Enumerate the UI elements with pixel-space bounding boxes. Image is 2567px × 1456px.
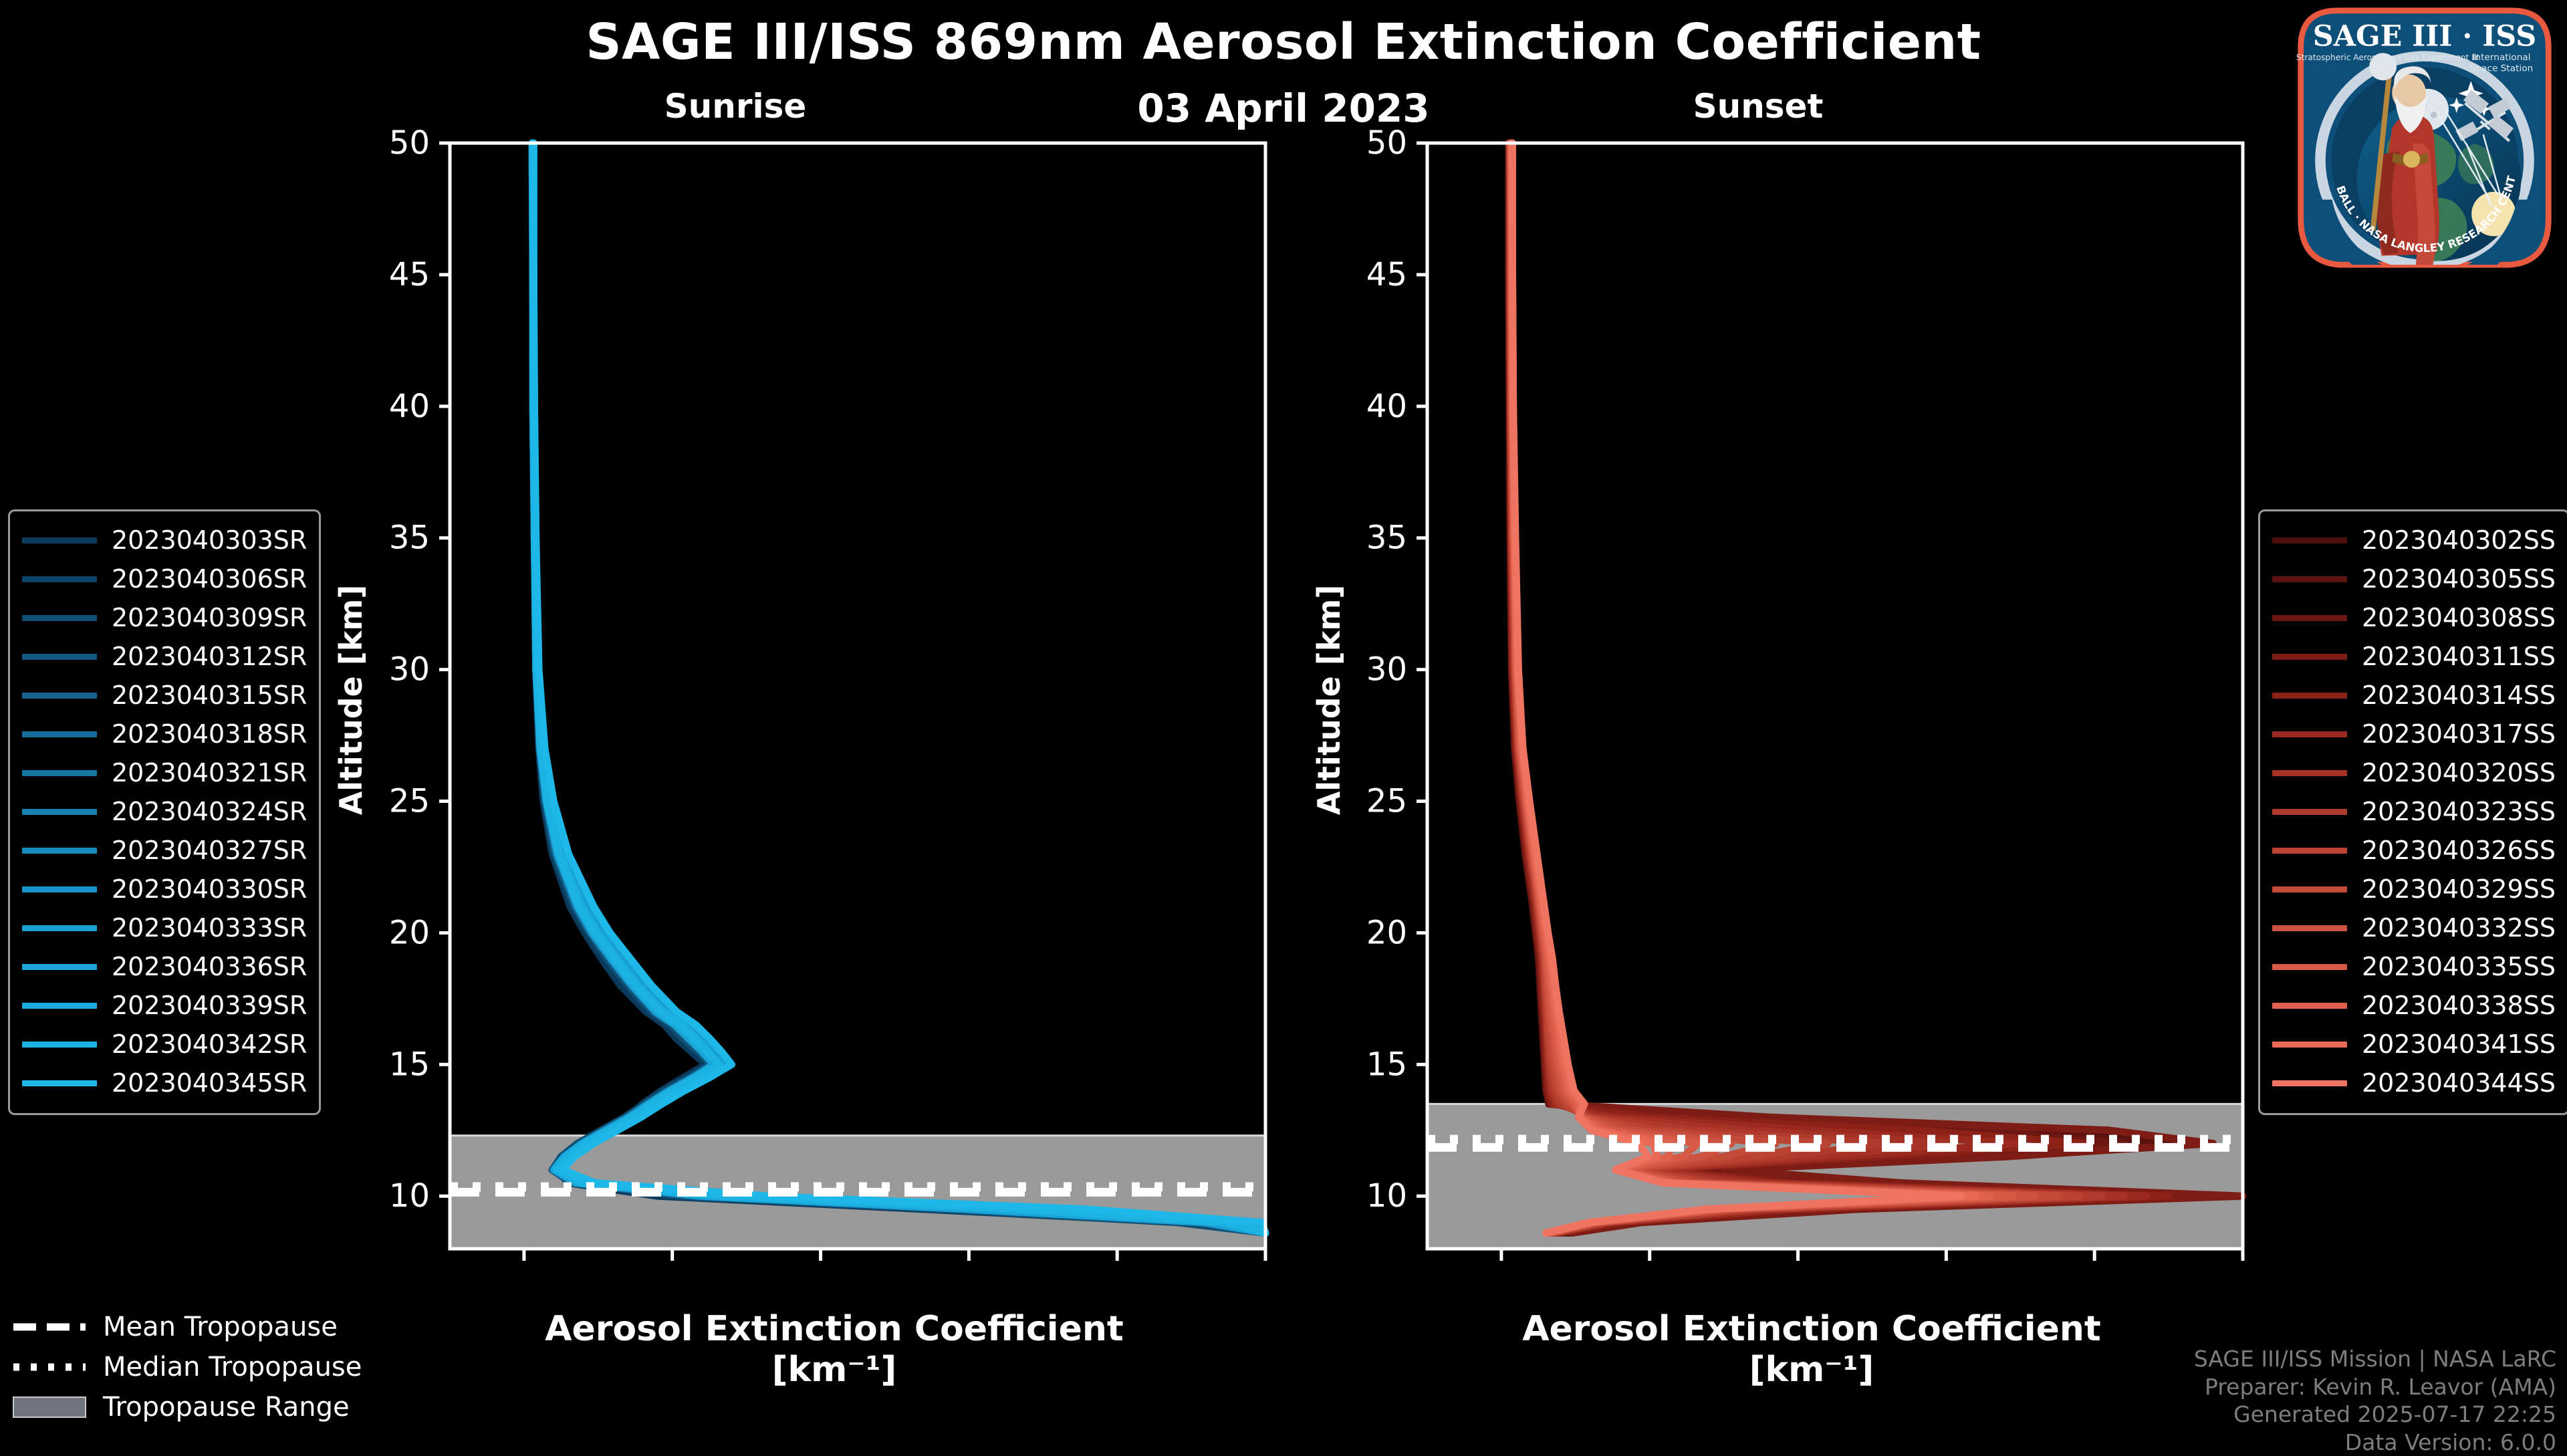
sunset-legend-item: 2023040329SS [2272,870,2556,908]
series-line [1509,143,2147,1233]
x-tick-label: 0.004 [1752,1267,1844,1270]
x-axis-label-left: Aerosol Extinction Coefficient [km⁻¹] [390,1309,1279,1391]
sunrise-legend-swatch [22,731,97,737]
series-line [1511,143,2057,1233]
sunset-legend-swatch [2272,925,2347,931]
sunset-legend-label: 2023040329SS [2362,874,2556,904]
sunrise-legend-label: 2023040309SR [112,603,307,632]
credits-line-1: SAGE III/ISS Mission | NASA LaRC [2194,1345,2556,1373]
series-line [1513,143,1961,1233]
sunset-legend-item: 2023040314SS [2272,676,2556,715]
sunrise-legend-label: 2023040339SR [112,991,307,1020]
x-axis-label-line1: Aerosol Extinction Coefficient [1522,1309,2101,1349]
sunset-legend-label: 2023040338SS [2362,991,2556,1020]
y-tick-label: 30 [389,651,430,689]
sunrise-legend-label: 2023040324SR [112,797,307,826]
sunset-legend-item: 2023040326SS [2272,831,2556,870]
logo-subtitle-left: Stratospheric Aerosol and Gas Experiment… [2296,53,2479,62]
sunset-plot: 1015202530354045500.0000.0020.0040.0060.… [1365,120,2261,1270]
series-line [532,143,1265,1233]
series-line [1510,143,2124,1233]
legend-label-median-tropopause: Median Tropopause [103,1352,362,1382]
sunset-legend-swatch [2272,886,2347,892]
sunrise-legend-label: 2023040306SR [112,564,307,594]
sunset-legend-label: 2023040341SS [2362,1029,2556,1059]
sunset-legend-item: 2023040323SS [2272,792,2556,831]
y-tick-label: 25 [389,783,430,820]
sunset-legend-label: 2023040317SS [2362,719,2556,749]
y-tick-label: 30 [1366,651,1407,689]
sunset-legend-item: 2023040302SS [2272,521,2556,560]
sunset-legend-label: 2023040320SS [2362,758,2556,787]
series-line [533,143,1265,1233]
sunset-legend-item: 2023040305SS [2272,560,2556,598]
series-line [1509,143,2213,1233]
sunset-legend-label: 2023040332SS [2362,913,2556,943]
logo-subtitle-right-1: International [2473,52,2531,63]
x-tick-label: 0.008 [2048,1267,2140,1270]
sunrise-legend-swatch [22,1042,97,1048]
series-line [533,143,1265,1233]
sunrise-legend-swatch [22,886,97,892]
sunset-legend-swatch [2272,809,2347,815]
series-line [1509,143,2243,1233]
sunset-legend-swatch [2272,1042,2347,1048]
sunset-legend-label: 2023040302SS [2362,525,2556,555]
sunrise-plot: 1015202530354045500.0000.0020.0040.0060.… [388,120,1283,1270]
sunrise-legend-swatch [22,1003,97,1009]
series-line [533,143,1265,1233]
sunset-legend-swatch [2272,615,2347,621]
y-tick-label: 40 [1366,388,1407,425]
sunset-legend-swatch [2272,537,2347,543]
series-line [533,143,1265,1233]
sunset-legend-swatch [2272,848,2347,854]
sunrise-legend-swatch [22,615,97,621]
legend-label-mean-tropopause: Mean Tropopause [103,1312,338,1342]
sunset-legend-swatch [2272,693,2347,699]
sunrise-legend-item: 2023040342SR [22,1025,307,1064]
legend-item-median-tropopause: Median Tropopause [12,1347,362,1387]
y-tick-label: 20 [1366,914,1407,951]
sunrise-legend-label: 2023040342SR [112,1029,307,1059]
logo-title: SAGE III · ISS [2313,20,2537,53]
sunset-legend-label: 2023040314SS [2362,681,2556,710]
x-tick-label: 0.008 [1071,1267,1163,1270]
series-line [533,143,1265,1233]
sunrise-legend-item: 2023040312SR [22,637,307,676]
sunrise-legend-item: 2023040318SR [22,715,307,753]
sunset-legend-swatch [2272,731,2347,737]
sunset-legend-swatch [2272,654,2347,660]
sunrise-legend-item: 2023040315SR [22,676,307,715]
dashed-line-icon [12,1319,87,1335]
series-line [1511,143,2013,1233]
x-tick-label: 0.006 [1901,1267,1992,1270]
series-line [1509,143,2191,1233]
series-line [1511,143,2035,1233]
x-tick-label: 0.002 [626,1267,718,1270]
x-tick-label: 0.000 [1455,1267,1547,1270]
sunrise-legend-label: 2023040333SR [112,913,307,943]
series-line [533,143,1265,1233]
series-line [1511,143,1975,1233]
series-line [533,143,1265,1233]
x-tick-label: 0.006 [923,1267,1015,1270]
y-axis-label-left: Altitude [km] [333,580,369,820]
sunrise-legend-label: 2023040303SR [112,525,307,555]
sunrise-legend-item: 2023040336SR [22,947,307,986]
series-line [532,143,1265,1233]
sunrise-legend-label: 2023040345SR [112,1068,307,1098]
axis-frame [450,143,1265,1249]
x-tick-label: 0.000 [478,1267,570,1270]
page-title: SAGE III/ISS 869nm Aerosol Extinction Co… [0,13,2567,71]
series-line [533,143,1265,1233]
sunrise-legend-label: 2023040315SR [112,681,307,710]
sunrise-legend-item: 2023040345SR [22,1064,307,1102]
sunrise-legend-label: 2023040327SR [112,836,307,865]
series-line [1510,143,2102,1233]
credits-line-3: Generated 2025-07-17 22:25 [2194,1401,2556,1429]
series-line [533,143,1265,1233]
sunrise-legend-swatch [22,848,97,854]
sunrise-legend-label: 2023040336SR [112,952,307,981]
series-line [1509,143,2169,1233]
legend-label-tropopause-range: Tropopause Range [103,1392,350,1423]
x-tick-label: 0.010 [1219,1267,1283,1270]
sunset-legend-label: 2023040326SS [2362,836,2556,865]
y-tick-label: 10 [389,1177,430,1215]
logo-subtitle-right-2: Space Station [2470,64,2533,74]
sunset-legend-item: 2023040335SS [2272,947,2556,986]
sunrise-legend-item: 2023040309SR [22,598,307,637]
sunrise-legend-swatch [22,576,97,582]
sunrise-legend-swatch [22,964,97,970]
gray-band-swatch [12,1396,87,1419]
series-line [1511,143,1991,1233]
series-line [533,143,1265,1233]
sunrise-legend-item: 2023040333SR [22,908,307,947]
sunset-legend: 2023040302SS2023040305SS2023040308SS2023… [2258,509,2567,1115]
legend-item-mean-tropopause: Mean Tropopause [12,1307,362,1347]
sunrise-legend-item: 2023040327SR [22,831,307,870]
sunset-legend-item: 2023040338SS [2272,986,2556,1025]
sunset-legend-item: 2023040341SS [2272,1025,2556,1064]
sunset-legend-label: 2023040323SS [2362,797,2556,826]
sunset-legend-label: 2023040305SS [2362,564,2556,594]
sunrise-legend-label: 2023040312SR [112,642,307,671]
sunrise-legend-label: 2023040330SR [112,874,307,904]
sunrise-legend-item: 2023040303SR [22,521,307,560]
sunrise-legend-swatch [22,693,97,699]
dotted-line-icon [12,1359,87,1375]
y-tick-label: 45 [389,256,430,293]
sunset-legend-item: 2023040311SS [2272,637,2556,676]
sunrise-legend-swatch [22,770,97,776]
sunrise-legend-item: 2023040339SR [22,986,307,1025]
sunrise-legend-item: 2023040324SR [22,792,307,831]
sunrise-legend-label: 2023040321SR [112,758,307,787]
sunset-legend-item: 2023040308SS [2272,598,2556,637]
sunset-legend-swatch [2272,1080,2347,1086]
credits-line-2: Preparer: Kevin R. Leavor (AMA) [2194,1373,2556,1401]
y-tick-label: 20 [389,914,430,951]
x-axis-label-line2: [km⁻¹] [772,1350,897,1390]
sunrise-legend-swatch [22,925,97,931]
series-line [533,143,1265,1233]
y-tick-label: 15 [389,1046,430,1083]
sunset-legend-item: 2023040332SS [2272,908,2556,947]
sunset-legend-swatch [2272,1003,2347,1009]
sunset-legend-item: 2023040320SS [2272,753,2556,792]
sunrise-legend-swatch [22,1080,97,1086]
sunset-legend-label: 2023040311SS [2362,642,2556,671]
sunset-legend-swatch [2272,964,2347,970]
series-line [532,143,1265,1233]
y-tick-label: 10 [1366,1177,1407,1215]
sunrise-legend-swatch [22,809,97,815]
series-line [533,143,1265,1233]
sunset-legend-swatch [2272,576,2347,582]
credits-line-4: Data Version: 6.0.0 [2194,1429,2556,1456]
sunrise-legend-item: 2023040306SR [22,560,307,598]
credits-block: SAGE III/ISS Mission | NASA LaRC Prepare… [2194,1345,2556,1456]
y-tick-label: 15 [1366,1046,1407,1083]
y-tick-label: 35 [389,519,430,557]
sunrise-legend-item: 2023040321SR [22,753,307,792]
x-tick-label: 0.002 [1604,1267,1695,1270]
y-axis-label-right: Altitude [km] [1311,580,1347,820]
sunrise-legend: 2023040303SR2023040306SR2023040309SR2023… [8,509,321,1115]
y-tick-label: 35 [1366,519,1407,557]
tropopause-legend: Mean Tropopause Median Tropopause Tropop… [12,1307,362,1427]
sunset-legend-label: 2023040344SS [2362,1068,2556,1098]
y-tick-label: 40 [389,388,430,425]
sunset-legend-item: 2023040317SS [2272,715,2556,753]
sunset-legend-label: 2023040335SS [2362,952,2556,981]
x-tick-label: 0.010 [2197,1267,2261,1270]
sunset-legend-item: 2023040344SS [2272,1064,2556,1102]
sunset-legend-swatch [2272,770,2347,776]
sunset-legend-label: 2023040308SS [2362,603,2556,632]
sunrise-legend-swatch [22,654,97,660]
series-line [1509,143,2235,1233]
y-tick-label: 45 [1366,256,1407,293]
legend-item-tropopause-range: Tropopause Range [12,1387,362,1427]
x-axis-label-right: Aerosol Extinction Coefficient [km⁻¹] [1367,1309,2256,1391]
sage-iii-iss-mission-patch-logo: BALL · NASA LANGLEY RESEARCH CENTER · TA… [2294,4,2555,271]
y-tick-label: 50 [389,124,430,162]
y-tick-label: 50 [1366,124,1407,162]
sunrise-legend-swatch [22,537,97,543]
sunrise-legend-label: 2023040318SR [112,719,307,749]
x-axis-label-line1: Aerosol Extinction Coefficient [545,1309,1124,1349]
x-axis-label-line2: [km⁻¹] [1749,1350,1874,1390]
series-line [1510,143,2080,1233]
sunrise-legend-item: 2023040330SR [22,870,307,908]
y-tick-label: 25 [1366,783,1407,820]
x-tick-label: 0.004 [775,1267,866,1270]
